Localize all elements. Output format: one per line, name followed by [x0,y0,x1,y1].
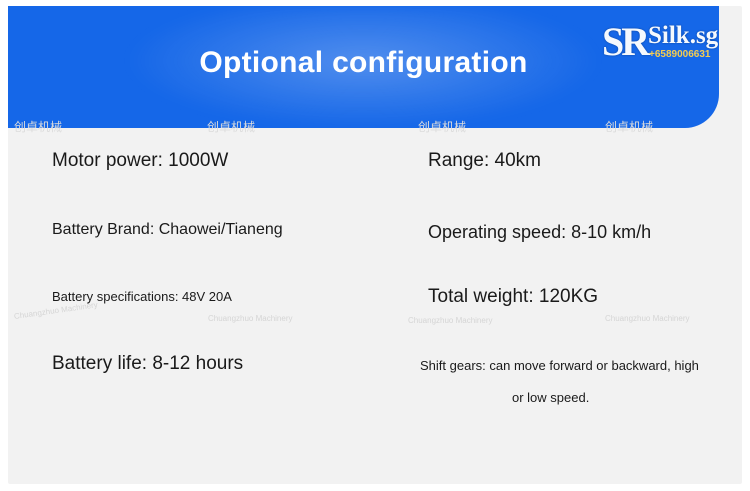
product-spec-image: Optional configuration SR Silk.sg +65890… [0,0,750,491]
logo-monogram: SR [602,22,647,62]
spec-range: Range: 40km [428,150,541,172]
spec-total-weight: Total weight: 120KG [428,286,598,308]
spec-battery-brand: Battery Brand: Chaowei/Tianeng [52,221,283,239]
watermark-cjk: 创卓机械 [418,118,466,135]
watermark-latin: Chuangzhuo Machinery [408,316,493,325]
brand-logo: SR Silk.sg +6589006631 [602,22,742,78]
logo-phone-number: +6589006631 [649,49,710,60]
spec-battery-life: Battery life: 8-12 hours [52,353,243,375]
logo-brand-name: Silk.sg [648,23,718,48]
watermark-latin: Chuangzhuo Machinery [605,314,690,323]
spec-battery-specifications: Battery specifications: 48V 20A [52,289,232,304]
watermark-cjk: 创卓机械 [14,118,62,135]
watermark-cjk: 创卓机械 [207,118,255,135]
spec-shift-gears-line1: Shift gears: can move forward or backwar… [420,358,699,373]
watermark-latin: Chuangzhuo Machinery [208,314,293,323]
spec-motor-power: Motor power: 1000W [52,150,228,172]
spec-operating-speed: Operating speed: 8-10 km/h [428,222,651,243]
spec-shift-gears-line2: or low speed. [512,390,589,405]
watermark-cjk: 创卓机械 [605,118,653,135]
